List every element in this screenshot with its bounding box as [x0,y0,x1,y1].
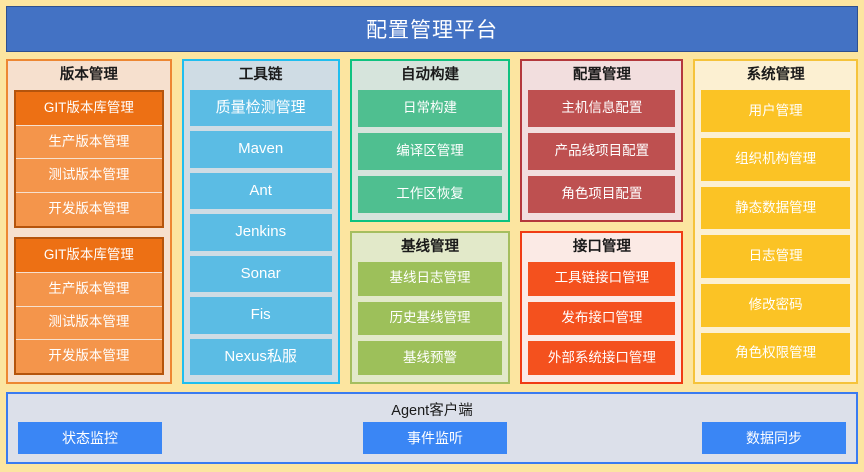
item-baseline-alert[interactable]: 基线预警 [358,341,503,375]
item-static-data-management[interactable]: 静态数据管理 [701,187,850,230]
item-product-line-project-config[interactable]: 产品线项目配置 [528,133,675,170]
panel-title: 基线管理 [358,237,503,262]
item-role-project-config[interactable]: 角色项目配置 [528,176,675,213]
item-external-system-interface-management[interactable]: 外部系统接口管理 [528,341,675,375]
item-history-baseline-management[interactable]: 历史基线管理 [358,302,503,336]
panel-title: 系统管理 [701,65,850,90]
panel-baseline-management: 基线管理 基线日志管理 历史基线管理 基线预警 [350,231,511,384]
page-title-bar: 配置管理平台 [6,6,858,52]
panel-title: 接口管理 [528,237,675,262]
panel-auto-build: 自动构建 日常构建 编译区管理 工作区恢复 [350,59,511,222]
agent-client-bar: Agent客户端 状态监控 事件监听 数据同步 [6,392,858,464]
item-toolchain-interface-management[interactable]: 工具链接口管理 [528,262,675,296]
agent-client-title: Agent客户端 [8,394,856,420]
data-sync-button[interactable]: 数据同步 [702,422,846,454]
item-log-management[interactable]: 日志管理 [701,235,850,278]
item-user-management[interactable]: 用户管理 [701,90,850,133]
columns-container: 版本管理 GIT版本库管理 生产版本管理 测试版本管理 开发版本管理 GIT版本… [6,59,858,384]
item-maven[interactable]: Maven [190,131,332,167]
page-title: 配置管理平台 [366,14,498,44]
item-workspace-recovery[interactable]: 工作区恢复 [358,176,503,213]
item-dev-version-management[interactable]: 开发版本管理 [16,340,162,373]
item-ant[interactable]: Ant [190,173,332,209]
item-dev-version-management[interactable]: 开发版本管理 [16,193,162,226]
item-production-version-management[interactable]: 生产版本管理 [16,273,162,307]
panel-toolchain: 工具链 质量检测管理 Maven Ant Jenkins Sonar Fis N… [182,59,340,384]
item-change-password[interactable]: 修改密码 [701,284,850,327]
panel-title: 配置管理 [528,65,675,90]
item-baseline-log-management[interactable]: 基线日志管理 [358,262,503,296]
item-git-repo-management[interactable]: GIT版本库管理 [16,239,162,273]
item-test-version-management[interactable]: 测试版本管理 [16,307,162,341]
item-role-permission-management[interactable]: 角色权限管理 [701,333,850,376]
version-group-2: GIT版本库管理 生产版本管理 测试版本管理 开发版本管理 [14,237,164,375]
version-group-1: GIT版本库管理 生产版本管理 测试版本管理 开发版本管理 [14,90,164,228]
agent-buttons-container: 状态监控 事件监听 数据同步 [8,420,856,462]
diagram-page: 配置管理平台 版本管理 GIT版本库管理 生产版本管理 测试版本管理 开发版本管… [0,0,864,472]
panel-version-management: 版本管理 GIT版本库管理 生产版本管理 测试版本管理 开发版本管理 GIT版本… [6,59,172,384]
item-fis[interactable]: Fis [190,297,332,333]
panel-title: 版本管理 [14,65,164,90]
item-release-interface-management[interactable]: 发布接口管理 [528,302,675,336]
item-production-version-management[interactable]: 生产版本管理 [16,126,162,160]
item-jenkins[interactable]: Jenkins [190,214,332,250]
panel-config-management: 配置管理 主机信息配置 产品线项目配置 角色项目配置 [520,59,683,222]
panel-title: 工具链 [190,65,332,90]
item-organization-management[interactable]: 组织机构管理 [701,138,850,181]
item-nexus-private-repo[interactable]: Nexus私服 [190,339,332,375]
item-sonar[interactable]: Sonar [190,256,332,292]
item-test-version-management[interactable]: 测试版本管理 [16,159,162,193]
item-quality-inspection-management[interactable]: 质量检测管理 [190,90,332,126]
status-monitoring-button[interactable]: 状态监控 [18,422,162,454]
panel-system-management: 系统管理 用户管理 组织机构管理 静态数据管理 日志管理 修改密码 角色权限管理 [693,59,858,384]
column-version-management: 版本管理 GIT版本库管理 生产版本管理 测试版本管理 开发版本管理 GIT版本… [6,59,172,384]
item-git-repo-management[interactable]: GIT版本库管理 [16,92,162,126]
item-host-info-config[interactable]: 主机信息配置 [528,90,675,127]
column-build-baseline: 自动构建 日常构建 编译区管理 工作区恢复 基线管理 基线日志管理 历史基线管理… [350,59,511,384]
column-system-management: 系统管理 用户管理 组织机构管理 静态数据管理 日志管理 修改密码 角色权限管理 [693,59,858,384]
item-daily-build[interactable]: 日常构建 [358,90,503,127]
column-toolchain: 工具链 质量检测管理 Maven Ant Jenkins Sonar Fis N… [182,59,340,384]
panel-interface-management: 接口管理 工具链接口管理 发布接口管理 外部系统接口管理 [520,231,683,384]
item-compile-zone-management[interactable]: 编译区管理 [358,133,503,170]
column-config-interface: 配置管理 主机信息配置 产品线项目配置 角色项目配置 接口管理 工具链接口管理 … [520,59,683,384]
panel-title: 自动构建 [358,65,503,90]
event-listening-button[interactable]: 事件监听 [363,422,507,454]
